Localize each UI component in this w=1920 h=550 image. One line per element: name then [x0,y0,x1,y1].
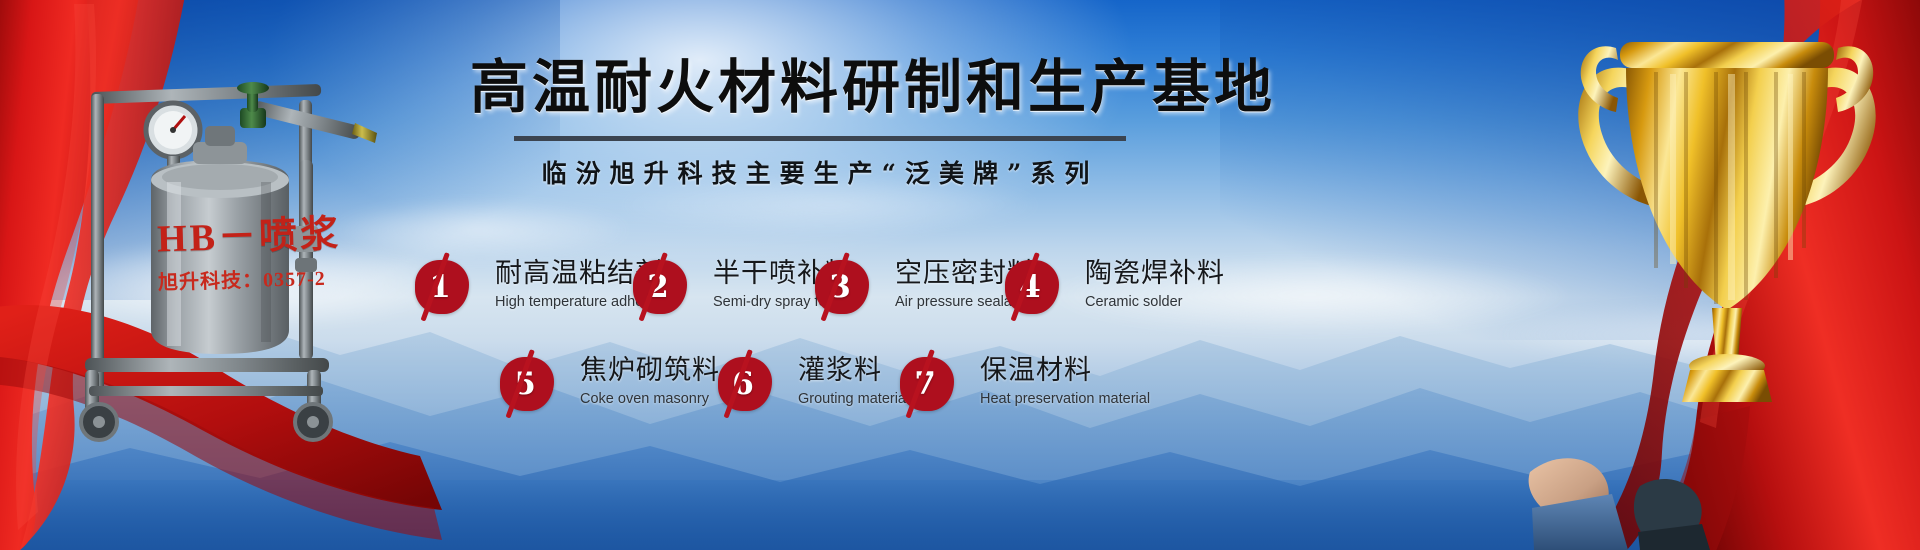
feature-title-en: Coke oven masonry [580,391,720,407]
feature-item-3[interactable]: 3 空压密封料 Air pressure sealant [815,258,1035,314]
feature-title-cn: 保温材料 [980,355,1150,386]
number-badge-icon: 6 [718,357,772,411]
number-badge-icon: 5 [500,357,554,411]
feature-item-5[interactable]: 5 焦炉砌筑料 Coke oven masonry [500,355,720,411]
page-subtitle: 临汾旭升科技主要生产“泛美牌”系列 [470,154,1170,190]
gold-trophy-icon [1562,10,1892,470]
number-badge-icon: 7 [900,357,954,411]
title-divider [514,136,1126,141]
product-tank-contact: 旭升科技：0357-2 [158,262,326,295]
number-badge-icon: 3 [815,260,869,314]
feature-title-cn: 灌浆料 [798,355,909,386]
feature-item-1[interactable]: 1 耐高温粘结剂 High temperature adhesive [415,258,669,314]
number-badge-icon: 4 [1005,260,1059,314]
promo-banner: HB－喷浆 旭升科技：0357-2 高温耐火材料研制和生产基地 临汾旭升科技主要… [0,0,1920,550]
product-tank-label: HB－喷浆 [156,203,341,263]
page-title: 高温耐火材料研制和生产基地 [470,58,1170,116]
feature-title-en: Heat preservation material [980,391,1150,407]
number-badge-icon: 1 [415,260,469,314]
feature-item-6[interactable]: 6 灌浆料 Grouting material [718,355,909,411]
feature-title-cn: 陶瓷焊补料 [1085,258,1225,289]
feature-title-en: Grouting material [798,391,909,407]
feature-item-7[interactable]: 7 保温材料 Heat preservation material [900,355,1150,411]
feature-title-cn: 焦炉砌筑料 [580,355,720,386]
feature-item-4[interactable]: 4 陶瓷焊补料 Ceramic solder [1005,258,1225,314]
headline-block: 高温耐火材料研制和生产基地 临汾旭升科技主要生产“泛美牌”系列 [470,58,1170,190]
feature-title-en: Ceramic solder [1085,294,1225,310]
number-badge-icon: 2 [633,260,687,314]
hands-icon [1520,420,1720,550]
